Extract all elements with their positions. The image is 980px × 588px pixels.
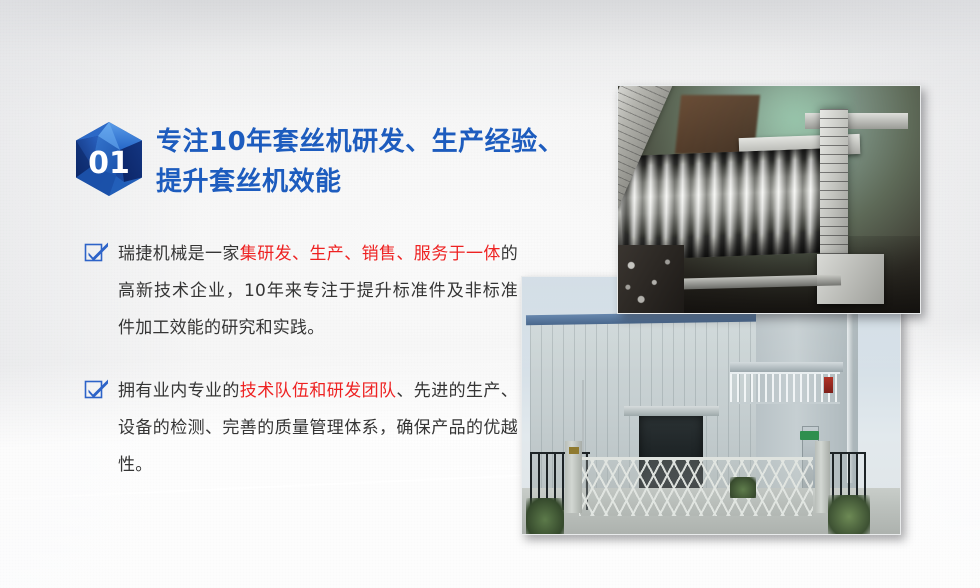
checkbox-checked-icon	[84, 376, 110, 402]
hexagon-badge: 01	[72, 120, 146, 198]
headline-row: 01 专注10年套丝机研发、生产经验、 提升套丝机效能	[72, 118, 542, 202]
bullet-list: 瑞捷机械是一家集研发、生产、销售、服务于一体的高新技术企业，10年来专注于提升标…	[84, 236, 524, 510]
banner-stage: 01 专注10年套丝机研发、生产经验、 提升套丝机效能 瑞捷机械是一家集研发、生…	[0, 0, 980, 588]
text-plain: 瑞捷机械是一家	[118, 244, 240, 264]
threaded-rod-caliper-photo	[617, 85, 921, 314]
list-item: 瑞捷机械是一家集研发、生产、销售、服务于一体的高新技术企业，10年来专注于提升标…	[84, 236, 524, 347]
text-plain: 拥有业内专业的	[118, 381, 240, 401]
checkbox-checked-icon	[84, 239, 110, 265]
hexagon-badge-icon: 01	[72, 120, 146, 198]
factory-building-photo	[521, 276, 901, 535]
text-highlight: 集研发、生产、销售、服务于一体	[240, 244, 501, 264]
list-item: 拥有业内专业的技术队伍和研发团队、先进的生产、设备的检测、完善的质量管理体系，确…	[84, 373, 524, 484]
list-item-text: 拥有业内专业的技术队伍和研发团队、先进的生产、设备的检测、完善的质量管理体系，确…	[118, 373, 518, 484]
content-column: 01 专注10年套丝机研发、生产经验、 提升套丝机效能 瑞捷机械是一家集研发、生…	[0, 0, 560, 588]
headline-line-1: 专注10年套丝机研发、生产经验、	[156, 122, 564, 162]
list-item-text: 瑞捷机械是一家集研发、生产、销售、服务于一体的高新技术企业，10年来专注于提升标…	[118, 236, 518, 347]
headline-line-2: 提升套丝机效能	[156, 162, 564, 202]
badge-number: 01	[88, 146, 130, 181]
headline: 专注10年套丝机研发、生产经验、 提升套丝机效能	[156, 118, 564, 202]
text-highlight: 技术队伍和研发团队	[240, 381, 397, 401]
